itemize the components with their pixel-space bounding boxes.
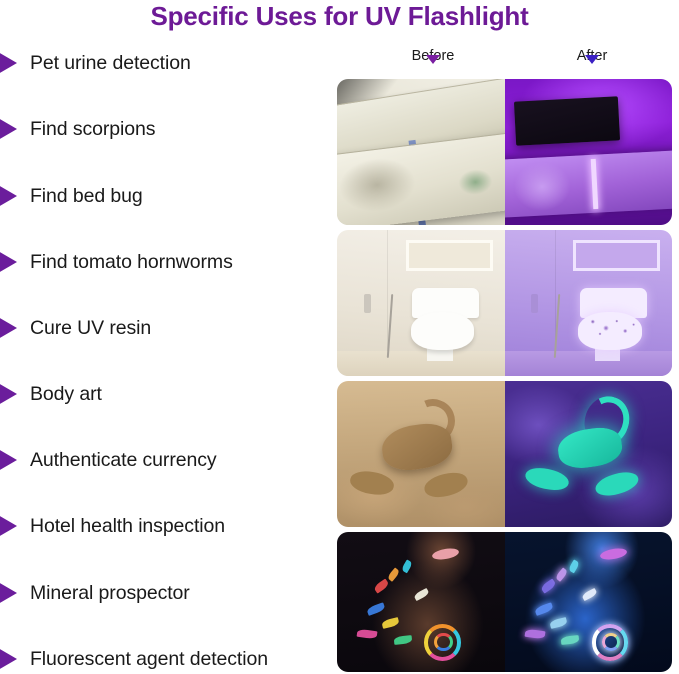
- wall-fixture: [531, 294, 538, 313]
- floor: [337, 351, 505, 376]
- paint-stroke-glowing: [549, 617, 567, 629]
- paint-stroke: [394, 635, 413, 645]
- paint-stroke: [381, 617, 399, 629]
- photo-currency-after: [505, 79, 673, 225]
- use-label: Fluorescent agent detection: [30, 648, 268, 671]
- scorpion-claw-right: [422, 469, 470, 501]
- triangle-bullet-icon: [0, 251, 17, 273]
- use-label: Cure UV resin: [30, 317, 151, 340]
- use-label: Pet urine detection: [30, 52, 191, 75]
- wall-fixture: [364, 294, 371, 313]
- list-item: Find scorpions: [0, 114, 336, 144]
- comparison-panel-bathroom: [337, 230, 672, 376]
- use-label: Body art: [30, 383, 102, 406]
- after-column-header: After: [532, 48, 652, 82]
- list-item: Authenticate currency: [0, 445, 336, 475]
- floor: [505, 351, 673, 376]
- scorpion-claw-left-glowing: [523, 464, 570, 493]
- triangle-bullet-icon: [0, 317, 17, 339]
- list-item: Hotel health inspection: [0, 511, 336, 541]
- lips: [432, 547, 460, 561]
- comparison-panel-body-art: [337, 532, 672, 672]
- uv-stains: [582, 313, 642, 342]
- list-item: Fluorescent agent detection: [0, 644, 336, 674]
- wall-niche: [573, 240, 660, 271]
- photo-body-art-before: [337, 532, 505, 672]
- triangle-bullet-icon: [0, 582, 17, 604]
- paint-stroke-glowing: [568, 559, 580, 573]
- paint-stroke: [387, 567, 401, 582]
- paint-stroke-glowing: [554, 567, 568, 582]
- scorpion-claw-right-glowing: [593, 469, 640, 501]
- scorpion-body: [380, 420, 456, 473]
- scorpion-body-glowing: [556, 425, 624, 471]
- list-item: Body art: [0, 379, 336, 409]
- triangle-bullet-icon: [0, 185, 17, 207]
- wall-niche: [406, 240, 493, 271]
- paint-swirl-glowing: [602, 633, 620, 651]
- triangle-bullet-icon: [0, 118, 17, 140]
- paint-stroke: [413, 588, 430, 601]
- photo-currency-before: [337, 79, 505, 225]
- triangle-bullet-icon: [0, 449, 17, 471]
- uses-list: Pet urine detection Find scorpions Find …: [0, 48, 336, 668]
- list-item: Mineral prospector: [0, 578, 336, 608]
- list-item: Cure UV resin: [0, 313, 336, 343]
- toilet-bowl: [411, 312, 475, 350]
- use-label: Find bed bug: [30, 185, 143, 208]
- paint-stroke-glowing: [561, 635, 580, 645]
- photo-scorpion-before: [337, 381, 505, 527]
- glowing-security-strip: [590, 159, 598, 209]
- triangle-bullet-icon: [0, 383, 17, 405]
- paint-stroke: [401, 559, 413, 573]
- chevron-down-icon: [585, 55, 599, 81]
- uv-flashlight-infographic: Specific Uses for UV Flashlight Pet urin…: [0, 0, 679, 674]
- use-label: Find scorpions: [30, 118, 155, 141]
- chevron-down-icon: [426, 55, 440, 81]
- list-item: Find tomato hornworms: [0, 247, 336, 277]
- triangle-bullet-icon: [0, 515, 17, 537]
- photo-bathroom-after: [505, 230, 673, 376]
- photo-scorpion-after: [505, 381, 673, 527]
- use-label: Find tomato hornworms: [30, 251, 233, 274]
- triangle-bullet-icon: [0, 648, 17, 670]
- use-label: Hotel health inspection: [30, 515, 225, 538]
- security-strip: [409, 140, 427, 225]
- page-title: Specific Uses for UV Flashlight: [0, 1, 679, 32]
- list-item: Find bed bug: [0, 181, 336, 211]
- paint-stroke: [373, 579, 390, 595]
- photo-bathroom-before: [337, 230, 505, 376]
- paint-stroke-glowing: [534, 602, 554, 616]
- paint-stroke: [357, 629, 378, 640]
- comparison-panel-currency: [337, 79, 672, 225]
- paint-stroke-glowing: [581, 588, 598, 601]
- use-label: Mineral prospector: [30, 582, 190, 605]
- paint-swirl: [434, 633, 452, 651]
- triangle-bullet-icon: [0, 52, 17, 74]
- use-label: Authenticate currency: [30, 449, 217, 472]
- paint-stroke-glowing: [540, 579, 557, 595]
- list-item: Pet urine detection: [0, 48, 336, 78]
- paint-stroke-glowing: [524, 629, 545, 640]
- paint-stroke: [366, 602, 386, 616]
- before-column-header: Before: [373, 48, 493, 82]
- comparison-panel-scorpion: [337, 381, 672, 527]
- scorpion-claw-left: [349, 468, 396, 497]
- photo-body-art-after: [505, 532, 673, 672]
- lips-glowing: [599, 547, 627, 561]
